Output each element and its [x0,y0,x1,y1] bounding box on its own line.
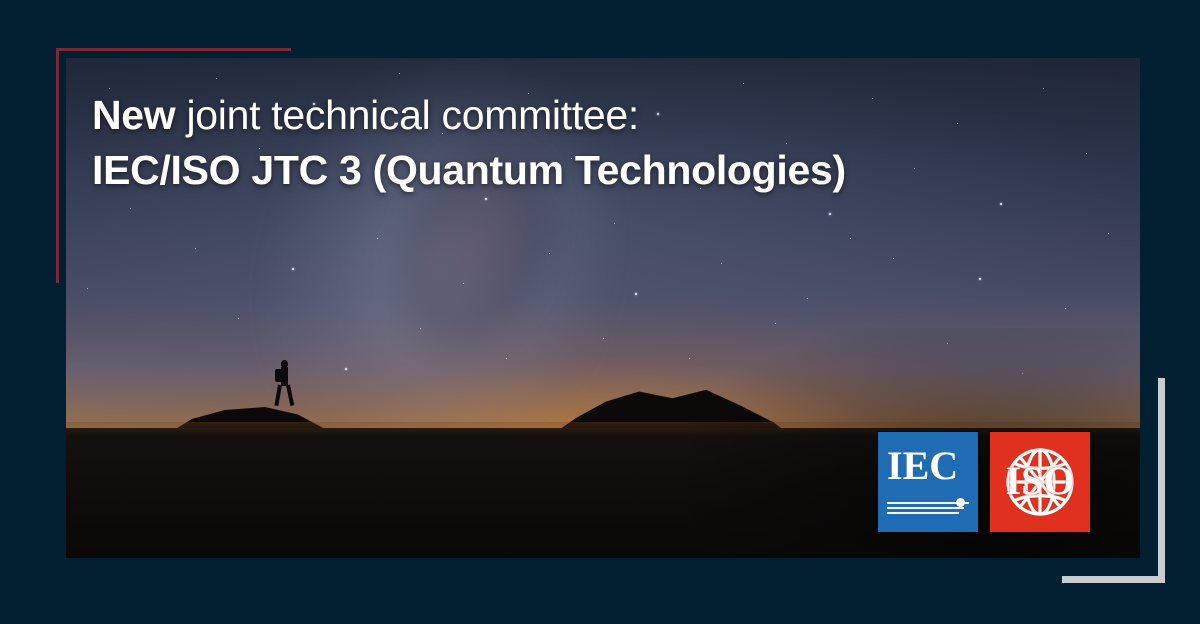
logo-group: IEC ISO [878,432,1090,532]
headline-line-1: New joint technical committee: [92,88,846,142]
headline-line-1-rest: joint technical committee: [175,92,639,138]
iso-logo[interactable]: ISO [990,432,1090,532]
headline-emphasis: New [92,92,175,138]
page-title: New joint technical committee: IEC/ISO J… [92,88,846,198]
iec-logo[interactable]: IEC [878,432,978,532]
iso-logo-text: ISO [990,459,1090,503]
iec-logo-lines-icon [887,502,969,516]
banner: New joint technical committee: IEC/ISO J… [0,0,1200,624]
iec-logo-text: IEC [887,444,958,488]
hiker-silhouette [272,360,298,406]
headline-line-2: IEC/ISO JTC 3 (Quantum Technologies) [92,142,846,198]
